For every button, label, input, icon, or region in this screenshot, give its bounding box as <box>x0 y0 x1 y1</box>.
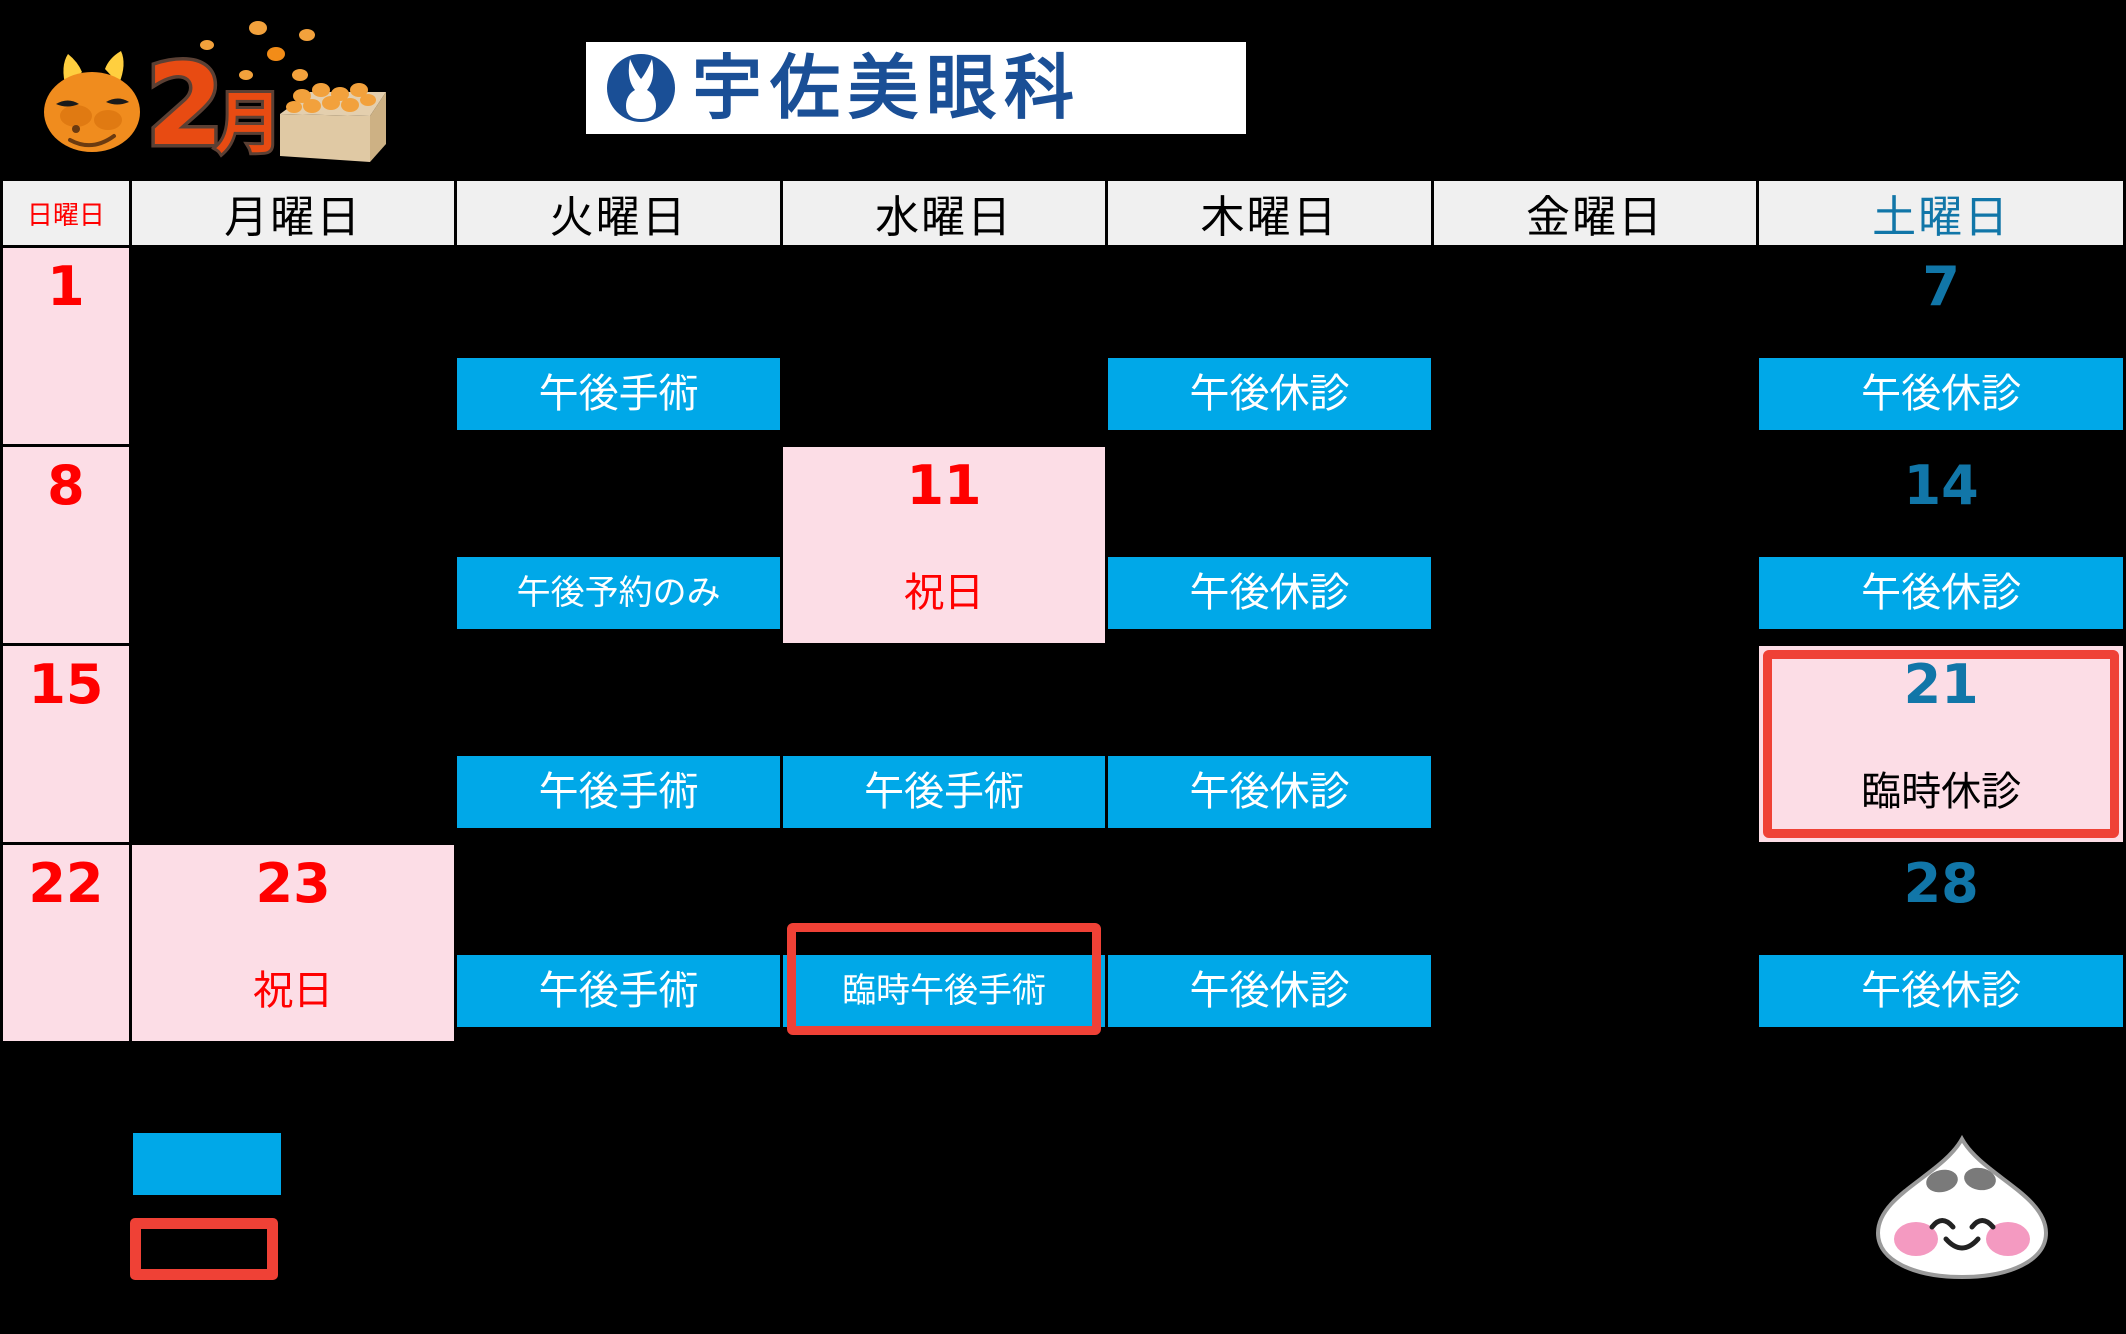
month-number-label: 2 月 <box>146 41 282 171</box>
day-note: 午後休診 <box>1108 358 1430 430</box>
calendar-cell-saturday-21[interactable]: 21臨時休診 <box>1758 645 2125 844</box>
calendar-week-row: 8午後予約のみ11祝日午後休診14午後休診 <box>2 446 2125 645</box>
calendar-cell-sunday-8[interactable]: 8 <box>2 446 131 645</box>
day-note: 午後休診 <box>1108 557 1430 629</box>
clinic-logo: 宇佐美眼科 <box>586 42 1246 134</box>
svg-text:月: 月 <box>216 85 282 162</box>
calendar-cell-monday-23[interactable]: 23祝日 <box>130 844 455 1043</box>
day-note: 午後休診 <box>1108 756 1430 828</box>
day-note: 臨時休診 <box>1759 756 2123 828</box>
day-note: 午後休診 <box>1759 557 2123 629</box>
calendar-cell-sunday-1[interactable]: 1 <box>2 247 131 446</box>
day-number: 28 <box>1759 845 2123 911</box>
calendar-cell-saturday-14[interactable]: 14午後休診 <box>1758 446 2125 645</box>
calendar-cell-wednesday-11[interactable]: 11祝日 <box>781 446 1106 645</box>
day-number: 1 <box>3 248 129 314</box>
day-number: 15 <box>3 646 129 712</box>
calendar-cell-saturday-7[interactable]: 7午後休診 <box>1758 247 2125 446</box>
day-note <box>132 756 454 828</box>
day-number: 7 <box>1759 248 2123 314</box>
calendar-week-row: 15午後手術午後手術午後休診21臨時休診 <box>2 645 2125 844</box>
weekday-header-sunday: 日曜日 <box>2 180 131 247</box>
calendar-cell-friday[interactable] <box>1432 844 1757 1043</box>
calendar-cell-monday[interactable] <box>130 446 455 645</box>
day-number: 8 <box>3 447 129 513</box>
calendar-cell-thursday[interactable]: 午後休診 <box>1107 446 1432 645</box>
calendar-cell-tuesday[interactable]: 午後手術 <box>456 844 781 1043</box>
day-note <box>3 358 129 430</box>
weekday-header-wednesday: 水曜日 <box>781 180 1106 247</box>
calendar-cell-thursday[interactable]: 午後休診 <box>1107 844 1432 1043</box>
weekday-header-row: 日曜日 月曜日 火曜日 水曜日 木曜日 金曜日 土曜日 <box>2 180 2125 247</box>
monthly-schedule-calendar: 日曜日 月曜日 火曜日 水曜日 木曜日 金曜日 土曜日 1午後手術午後休診7午後… <box>0 178 2126 1044</box>
day-note: 午後休診 <box>1108 955 1430 1027</box>
calendar-cell-wednesday[interactable]: 臨時午後手術 <box>781 844 1106 1043</box>
day-note <box>1434 358 1756 430</box>
usami-rabbit-logo-icon <box>604 51 678 125</box>
calendar-footer <box>0 1090 2126 1334</box>
rice-dumpling-mascot-icon <box>1864 1133 2060 1281</box>
svg-text:2: 2 <box>146 41 222 171</box>
day-note: 午後休診 <box>1759 358 2123 430</box>
day-note <box>132 358 454 430</box>
day-note: 午後手術 <box>457 756 779 828</box>
day-note: 午後予約のみ <box>457 557 779 629</box>
day-number: 22 <box>3 845 129 911</box>
day-number: 23 <box>132 845 454 911</box>
legend-blue-swatch-icon <box>133 1133 281 1195</box>
day-note <box>132 557 454 629</box>
calendar-cell-thursday[interactable]: 午後休診 <box>1107 645 1432 844</box>
day-note <box>3 756 129 828</box>
calendar-cell-monday[interactable] <box>130 247 455 446</box>
day-note <box>1434 955 1756 1027</box>
calendar-cell-tuesday[interactable]: 午後手術 <box>456 645 781 844</box>
page-header: 2 月 宇佐 <box>0 0 2126 178</box>
weekday-header-friday: 金曜日 <box>1432 180 1757 247</box>
bean-box-icon <box>280 83 386 162</box>
oni-face-icon <box>44 51 140 152</box>
calendar-cell-friday[interactable] <box>1432 247 1757 446</box>
calendar-cell-thursday[interactable]: 午後休診 <box>1107 247 1432 446</box>
legend-item-red-frame <box>130 1218 302 1280</box>
legend-item-blue-band <box>133 1133 305 1195</box>
day-note <box>3 557 129 629</box>
day-note: 午後手術 <box>783 756 1105 828</box>
day-number: 11 <box>783 447 1105 513</box>
calendar-cell-monday[interactable] <box>130 645 455 844</box>
day-note <box>783 358 1105 430</box>
day-note <box>1434 756 1756 828</box>
month-header-illustration: 2 月 <box>18 4 538 174</box>
calendar-cell-wednesday[interactable] <box>781 247 1106 446</box>
calendar-body: 1午後手術午後休診7午後休診8午後予約のみ11祝日午後休診14午後休診15午後手… <box>2 247 2125 1043</box>
day-note: 祝日 <box>132 955 454 1027</box>
day-note <box>3 955 129 1027</box>
day-number: 21 <box>1759 646 2123 712</box>
calendar-cell-friday[interactable] <box>1432 645 1757 844</box>
calendar-cell-saturday-28[interactable]: 28午後休診 <box>1758 844 2125 1043</box>
day-note: 午後手術 <box>457 955 779 1027</box>
day-number: 14 <box>1759 447 2123 513</box>
calendar-cell-sunday-15[interactable]: 15 <box>2 645 131 844</box>
calendar-week-row: 1午後手術午後休診7午後休診 <box>2 247 2125 446</box>
day-note: 午後休診 <box>1759 955 2123 1027</box>
day-note <box>1434 557 1756 629</box>
calendar-cell-tuesday[interactable]: 午後手術 <box>456 247 781 446</box>
weekday-header-monday: 月曜日 <box>130 180 455 247</box>
calendar-week-row: 2223祝日午後手術臨時午後手術午後休診28午後休診 <box>2 844 2125 1043</box>
day-note: 臨時午後手術 <box>783 955 1105 1027</box>
day-note: 午後手術 <box>457 358 779 430</box>
weekday-header-thursday: 木曜日 <box>1107 180 1432 247</box>
day-note: 祝日 <box>783 557 1105 629</box>
calendar-cell-sunday-22[interactable]: 22 <box>2 844 131 1043</box>
weekday-header-tuesday: 火曜日 <box>456 180 781 247</box>
calendar-cell-friday[interactable] <box>1432 446 1757 645</box>
weekday-header-saturday: 土曜日 <box>1758 180 2125 247</box>
clinic-name: 宇佐美眼科 <box>692 53 1082 123</box>
calendar-cell-tuesday[interactable]: 午後予約のみ <box>456 446 781 645</box>
calendar-cell-wednesday[interactable]: 午後手術 <box>781 645 1106 844</box>
legend-red-swatch-icon <box>130 1218 278 1280</box>
